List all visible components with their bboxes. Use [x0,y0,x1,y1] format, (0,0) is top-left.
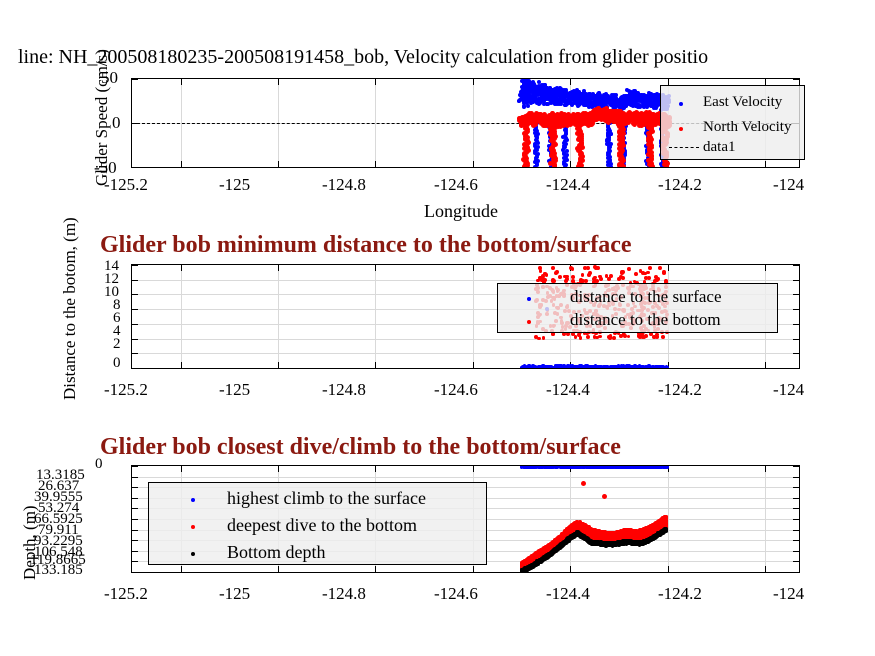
axis-tick [181,566,182,572]
subplot1-xtick-4: -124.4 [546,175,590,195]
axis-tick [132,530,138,531]
data-point [609,274,613,278]
axis-tick [668,566,669,572]
axis-tick [132,498,138,499]
axis-tick [181,466,182,472]
legend1-marker-north [679,127,683,131]
subplot2-ytick-6: 2 [113,336,121,353]
data-point [664,164,669,168]
data-point [571,332,575,336]
axis-tick [793,79,799,80]
data-point [612,336,616,340]
data-point [621,276,625,280]
data-point [563,103,567,107]
axis-tick [375,79,376,85]
axis-tick [181,265,182,271]
axis-tick [375,566,376,572]
data-point [646,271,650,275]
data-point [627,267,631,271]
data-point [609,334,613,338]
axis-tick [181,79,182,85]
axis-tick [793,540,799,541]
data-point [661,335,665,339]
figure-root: line: NH_200508180235-200508191458_bob, … [0,0,875,656]
axis-tick [793,265,799,266]
subplot2-legend: distance to the surface distance to the … [497,283,778,333]
axis-tick [132,477,138,478]
legend1-label-north: North Velocity [703,119,791,136]
data-point [603,95,607,99]
axis-tick [765,566,766,572]
axis-tick [132,339,138,340]
data-point [662,270,666,274]
data-point [536,279,540,283]
axis-tick [278,466,279,472]
subplot3-title: Glider bob closest dive/climb to the bot… [100,434,621,461]
data-point [576,164,581,168]
axis-tick [375,265,376,271]
axis-tick [132,294,138,295]
axis-tick [132,309,138,310]
subplot1-xtick-6: -124 [773,175,804,195]
legend1-marker-data1 [669,147,699,148]
data-point [656,277,660,281]
data-point [666,366,670,369]
axis-tick [181,161,182,167]
subplot1-legend: East Velocity North Velocity data1 [660,85,805,160]
axis-tick [793,572,799,573]
axis-tick [793,477,799,478]
subplot2-xtick-0: -125.2 [104,380,148,400]
data-point [554,271,558,275]
axis-tick [278,161,279,167]
axis-tick [132,551,138,552]
axis-tick [132,487,138,488]
axis-tick [793,167,799,168]
data-point [634,272,638,276]
axis-tick [132,466,138,467]
data-point [650,164,655,168]
axis-tick [473,466,474,472]
subplot2-ytick-7: 0 [113,355,121,372]
axis-tick [793,280,799,281]
subplot1-xtick-3: -124.6 [434,175,478,195]
axis-tick [375,466,376,472]
axis-tick [473,161,474,167]
axis-tick [793,324,799,325]
data-point [620,270,624,274]
data-point [587,273,591,277]
data-point [648,266,652,270]
axis-tick [132,572,138,573]
data-point [638,335,642,339]
data-point [586,335,590,339]
axis-tick [278,265,279,271]
axis-tick [793,487,799,488]
data-point [541,274,545,278]
axis-tick [570,566,571,572]
axis-tick [132,519,138,520]
data-point [583,266,587,270]
axis-tick [278,362,279,368]
subplot1-xlabel: Longitude [424,201,498,222]
axis-tick [132,280,138,281]
axis-tick [132,561,138,562]
subplot1-xtick-5: -124.2 [658,175,702,195]
axis-tick [793,498,799,499]
axis-tick [765,265,766,271]
axis-tick [570,79,571,85]
subplot1-xtick-0: -125.2 [104,175,148,195]
axis-tick [793,309,799,310]
axis-tick [793,339,799,340]
axis-tick [765,161,766,167]
data-point [658,266,662,270]
axis-tick [793,294,799,295]
legend1-label-data1: data1 [703,139,735,156]
legend2-marker-bottom [527,320,531,324]
legend2-marker-surface [527,297,531,301]
axis-tick [132,167,138,168]
data-point [571,267,575,271]
subplot1-ytick-1: 0 [112,113,121,133]
data-point [571,275,575,279]
data-point [563,165,567,168]
axis-tick [793,508,799,509]
data-point [551,266,555,270]
axis-tick [793,561,799,562]
data-point [542,102,546,106]
axis-tick [181,362,182,368]
subplot2-xtick-6: -124 [773,380,804,400]
axis-tick [793,466,799,467]
axis-tick [473,566,474,572]
axis-tick [375,362,376,368]
axis-tick [765,466,766,472]
subplot2-xtick-1: -125 [219,380,250,400]
subplot2-xtick-4: -124.4 [546,380,590,400]
data-point [577,333,581,337]
axis-tick [793,368,799,369]
gridline-horizontal [132,353,799,354]
gridline-horizontal [132,280,799,281]
data-point [538,266,542,270]
gridline-horizontal [132,339,799,340]
axis-tick [473,265,474,271]
axis-tick [473,79,474,85]
axis-tick [132,508,138,509]
axis-tick [473,362,474,368]
data-point [644,276,648,280]
axis-tick [570,161,571,167]
axis-tick [132,368,138,369]
data-point [666,465,670,468]
axis-tick [132,265,138,266]
data-point [522,164,527,168]
data-point [609,165,613,168]
legend2-label-surface: distance to the surface [570,287,722,307]
figure-title: line: NH_200508180235-200508191458_bob, … [18,46,708,69]
subplot1-xtick-1: -125 [219,175,250,195]
subplot2-xtick-3: -124.6 [434,380,478,400]
axis-tick [278,566,279,572]
legend1-label-east: East Velocity [703,94,782,111]
axis-tick [765,362,766,368]
axis-tick [132,79,138,80]
axis-tick [375,161,376,167]
axis-tick [793,519,799,520]
subplot2-xtick-2: -124.8 [322,380,366,400]
axis-tick [132,540,138,541]
subplot1-ytick-0: 50 [101,68,118,88]
gridline-horizontal [132,477,799,478]
axis-tick [793,551,799,552]
subplot2-title: Glider bob minimum distance to the botto… [100,232,632,259]
data-point [621,164,626,168]
subplot2-xtick-5: -124.2 [658,380,702,400]
axis-tick [132,324,138,325]
axis-tick [278,79,279,85]
subplot2-ylabel: Distance to the botom, (m) [60,217,80,400]
data-point [558,275,562,279]
data-point [581,273,585,277]
data-point [533,165,537,168]
axis-tick [793,530,799,531]
legend2-label-bottom: distance to the bottom [570,310,721,330]
axis-tick [132,353,138,354]
subplot1-xtick-2: -124.8 [322,175,366,195]
axis-tick [668,265,669,271]
data-point [552,164,557,168]
data-point [618,109,623,114]
legend1-marker-east [679,102,683,106]
axis-tick [793,353,799,354]
